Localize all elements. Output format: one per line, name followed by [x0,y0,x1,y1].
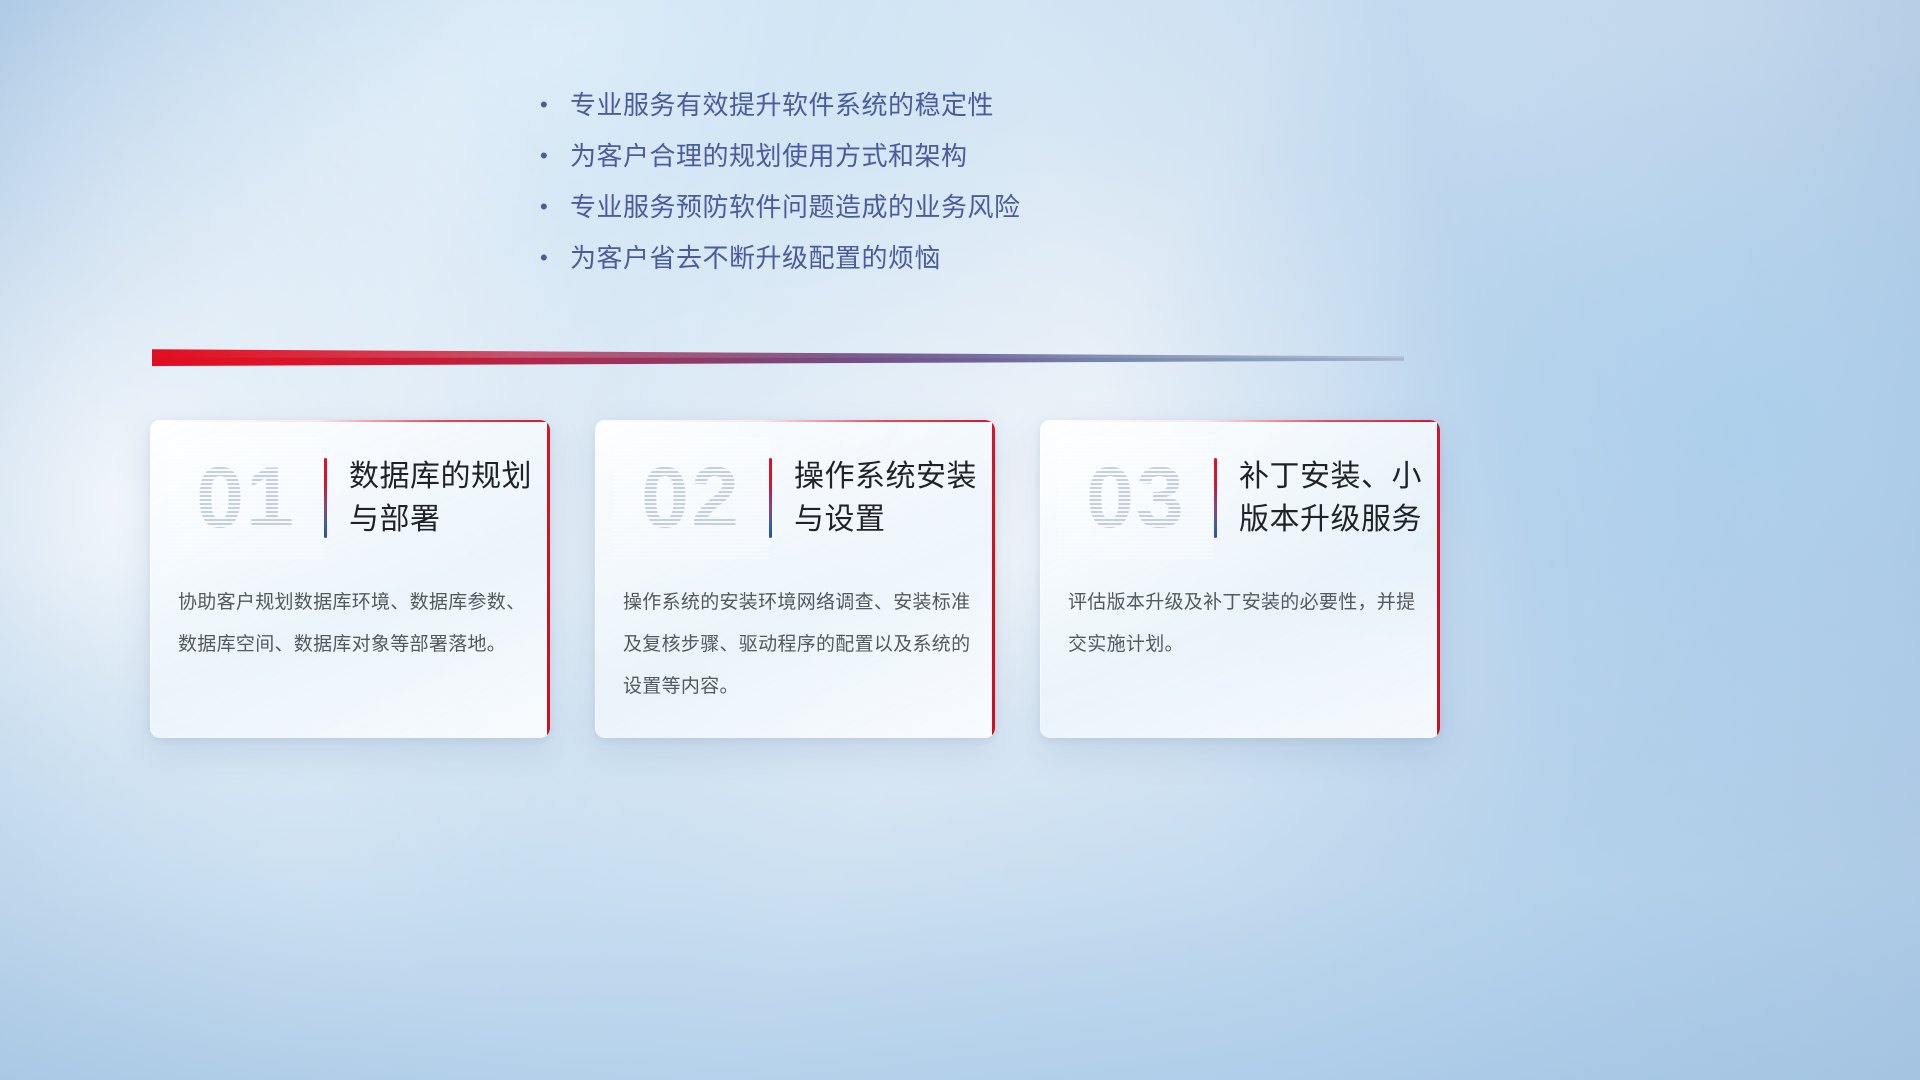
service-card-03[interactable]: 03 补丁安装、小版本升级服务 评估版本升级及补丁安装的必要性，并提交实施计划。 [1040,420,1440,738]
card-title: 数据库的规划与部署 [349,455,550,541]
card-header: 03 补丁安装、小版本升级服务 [1040,438,1440,558]
card-top-accent [150,420,550,422]
bullet-text: 专业服务预防软件问题造成的业务风险 [570,190,1021,224]
bullet-dot-icon: • [540,241,570,275]
list-item: • 为客户合理的规划使用方式和架构 [540,139,1300,190]
service-card-02[interactable]: 02 操作系统安装与设置 操作系统的安装环境网络调查、安装标准及复核步骤、驱动程… [595,420,995,738]
card-accent-bar [1214,458,1217,538]
bullet-text: 专业服务有效提升软件系统的稳定性 [570,88,994,122]
bullet-text: 为客户省去不断升级配置的烦恼 [570,241,941,275]
bullet-text: 为客户合理的规划使用方式和架构 [570,139,968,173]
card-description: 操作系统的安装环境网络调查、安装标准及复核步骤、驱动程序的配置以及系统的设置等内… [623,582,971,708]
list-item: • 为客户省去不断升级配置的烦恼 [540,241,1300,292]
card-accent-bar [769,458,772,538]
card-top-accent [1040,420,1440,422]
card-accent-bar [324,458,327,538]
section-divider [152,344,1404,366]
card-description: 评估版本升级及补丁安装的必要性，并提交实施计划。 [1068,582,1416,666]
card-top-accent [595,420,995,422]
card-title: 操作系统安装与设置 [794,455,995,541]
service-card-01[interactable]: 01 数据库的规划与部署 协助客户规划数据库环境、数据库参数、数据库空间、数据库… [150,420,550,738]
card-number-watermark: 03 [1062,443,1210,553]
card-description: 协助客户规划数据库环境、数据库参数、数据库空间、数据库对象等部署落地。 [178,582,526,666]
benefits-bullet-list: • 专业服务有效提升软件系统的稳定性 • 为客户合理的规划使用方式和架构 • 专… [540,88,1300,292]
bullet-dot-icon: • [540,190,570,224]
card-header: 01 数据库的规划与部署 [150,438,550,558]
card-number-watermark: 01 [172,443,320,553]
card-title: 补丁安装、小版本升级服务 [1239,455,1440,541]
bullet-dot-icon: • [540,88,570,122]
list-item: • 专业服务预防软件问题造成的业务风险 [540,190,1300,241]
bullet-dot-icon: • [540,139,570,173]
card-number-watermark: 02 [617,443,765,553]
list-item: • 专业服务有效提升软件系统的稳定性 [540,88,1300,139]
card-header: 02 操作系统安装与设置 [595,438,995,558]
service-card-group: 01 数据库的规划与部署 协助客户规划数据库环境、数据库参数、数据库空间、数据库… [150,420,1440,738]
